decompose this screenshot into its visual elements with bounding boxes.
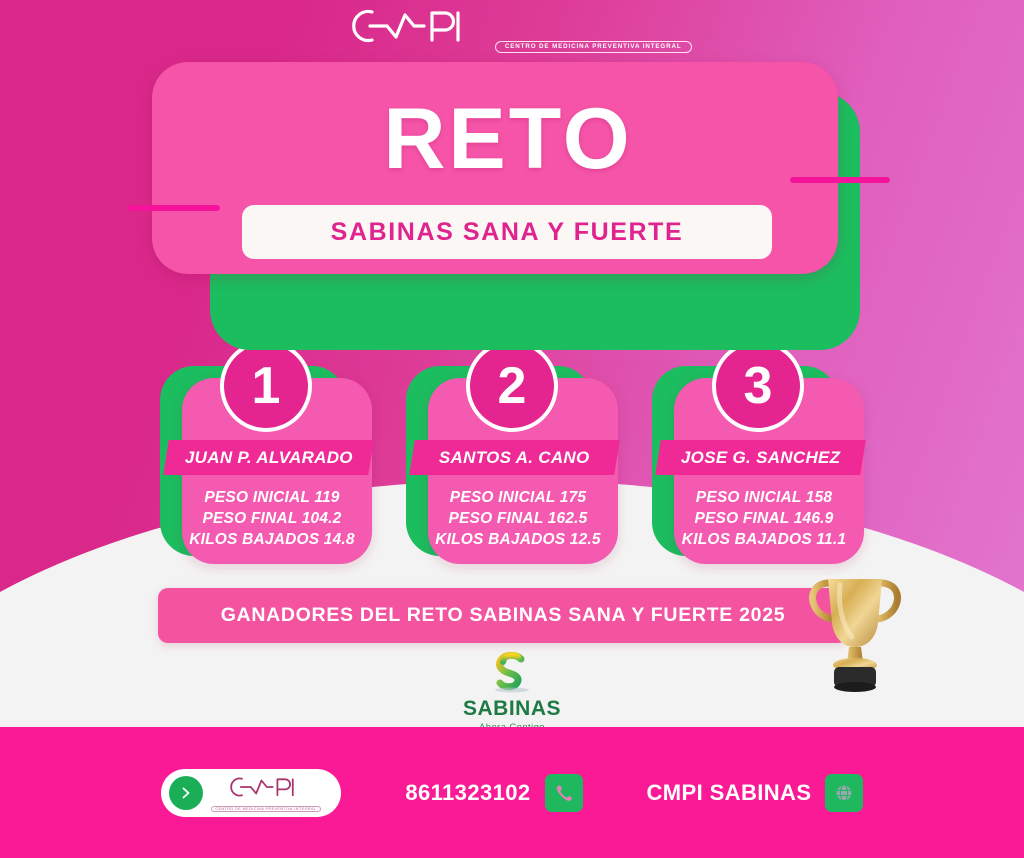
poster-canvas: CENTRO DE MEDICINA PREVENTIVA INTEGRAL R…	[0, 0, 1024, 858]
winner-card: 2 SANTOS A. CANO PESO INICIAL 175 PESO F…	[406, 340, 618, 570]
winner-card: 1 JUAN P. ALVARADO PESO INICIAL 119 PESO…	[160, 340, 372, 570]
stat-peso-final: PESO FINAL 162.5	[420, 509, 616, 530]
footer-cmpi-logo-icon	[211, 774, 322, 804]
stat-peso-final: PESO FINAL 146.9	[666, 509, 862, 530]
footer-bar: CENTRO DE MEDICINA PREVENTIVA INTEGRAL 8…	[0, 727, 1024, 858]
hero-title-block: RETO SABINAS SANA Y FUERTE	[152, 62, 864, 297]
sabinas-s-icon	[488, 650, 536, 694]
rank-badge: 3	[712, 340, 804, 432]
rank-number: 1	[252, 360, 281, 412]
hero-subtitle-plate: SABINAS SANA Y FUERTE	[242, 205, 772, 259]
hero-subtitle: SABINAS SANA Y FUERTE	[331, 218, 684, 247]
stat-peso-inicial: PESO INICIAL 119	[174, 488, 370, 509]
stat-peso-final: PESO FINAL 104.2	[174, 509, 370, 530]
stat-kilos-bajados: KILOS BAJADOS 12.5	[420, 530, 616, 551]
footer-cmpi-tagline: CENTRO DE MEDICINA PREVENTIVA INTEGRAL	[211, 806, 322, 812]
footer-social-item[interactable]: CMPI SABINAS	[647, 774, 864, 812]
winner-name-ribbon: JUAN P. ALVARADO	[163, 440, 374, 475]
trophy-icon	[800, 565, 910, 695]
brand-header: CENTRO DE MEDICINA PREVENTIVA INTEGRAL	[0, 4, 1024, 53]
footer-social-name: CMPI SABINAS	[647, 780, 812, 806]
rank-badge: 2	[466, 340, 558, 432]
globe-icon[interactable]	[825, 774, 863, 812]
winners-banner-text: GANADORES DEL RETO SABINAS SANA Y FUERTE…	[221, 604, 786, 627]
winner-card: 3 JOSE G. SANCHEZ PESO INICIAL 158 PESO …	[652, 340, 864, 570]
footer-cmpi-pill[interactable]: CENTRO DE MEDICINA PREVENTIVA INTEGRAL	[161, 769, 342, 817]
winner-name: SANTOS A. CANO	[439, 448, 590, 468]
dash-accent-left	[128, 205, 220, 211]
winner-stats: PESO INICIAL 175 PESO FINAL 162.5 KILOS …	[420, 488, 616, 550]
winner-name: JOSE G. SANCHEZ	[681, 448, 840, 468]
winner-name-ribbon: SANTOS A. CANO	[409, 440, 620, 475]
sponsor-name: SABINAS	[0, 697, 1024, 721]
stat-peso-inicial: PESO INICIAL 158	[666, 488, 862, 509]
footer-phone-item[interactable]: 8611323102	[405, 774, 582, 812]
stat-peso-inicial: PESO INICIAL 175	[420, 488, 616, 509]
brand-tagline: CENTRO DE MEDICINA PREVENTIVA INTEGRAL	[495, 41, 692, 53]
page-title: RETO	[152, 96, 864, 182]
cmpi-logo-icon	[332, 4, 490, 48]
chevron-right-icon[interactable]	[169, 776, 203, 810]
rank-number: 3	[744, 360, 773, 412]
stat-kilos-bajados: KILOS BAJADOS 14.8	[174, 530, 370, 551]
dash-accent-right	[790, 177, 890, 183]
rank-badge: 1	[220, 340, 312, 432]
winner-stats: PESO INICIAL 119 PESO FINAL 104.2 KILOS …	[174, 488, 370, 550]
winner-name: JUAN P. ALVARADO	[185, 448, 353, 468]
stat-kilos-bajados: KILOS BAJADOS 11.1	[666, 530, 862, 551]
rank-number: 2	[498, 360, 527, 412]
phone-icon[interactable]	[545, 774, 583, 812]
footer-phone-number: 8611323102	[405, 780, 530, 806]
winners-banner: GANADORES DEL RETO SABINAS SANA Y FUERTE…	[158, 588, 848, 643]
winner-cards-row: 1 JUAN P. ALVARADO PESO INICIAL 119 PESO…	[0, 340, 1024, 570]
winner-stats: PESO INICIAL 158 PESO FINAL 146.9 KILOS …	[666, 488, 862, 550]
winner-name-ribbon: JOSE G. SANCHEZ	[655, 440, 866, 475]
